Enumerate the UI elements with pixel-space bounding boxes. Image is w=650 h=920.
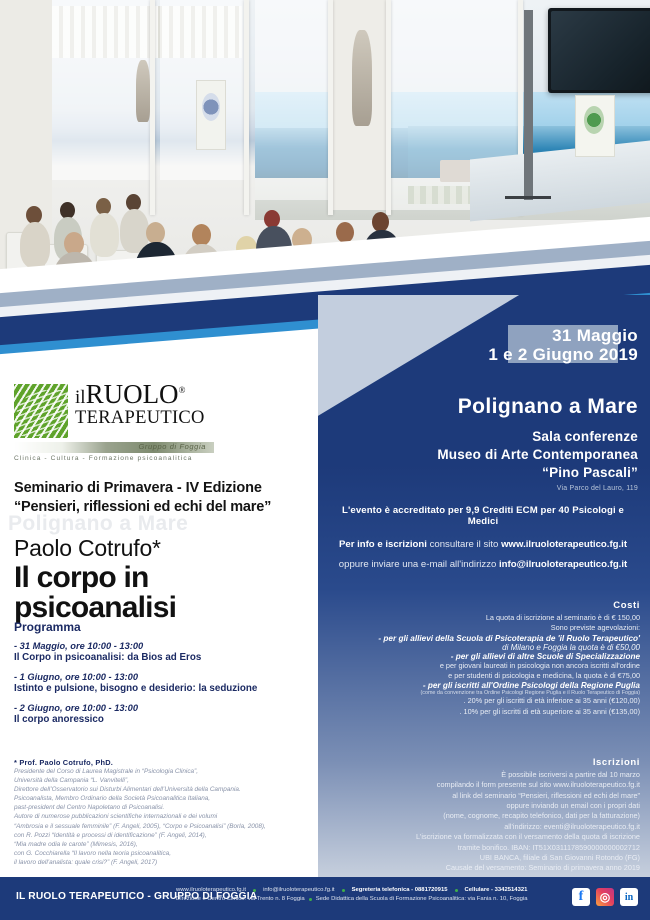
photo-statue-1 (136, 60, 150, 122)
costs-intro-1: La quota di iscrizione al seminario è di… (340, 613, 640, 623)
footer-contacts: www.ilruoloterapeutico.fg.it info@ilruol… (176, 886, 586, 904)
registration-line: L'iscrizione va formalizzata con il vers… (340, 832, 640, 842)
separator-dot-icon (309, 898, 312, 901)
bio-line: con R. Pozzi “Identità e processi di ide… (14, 831, 314, 840)
info-registration-line: Per info e iscrizioni consultare il sito… (328, 539, 638, 550)
session-date: - 31 Maggio, ore 10:00 - 13:00 (14, 641, 309, 651)
program-section: Programma - 31 Maggio, ore 10:00 - 13:00… (14, 620, 309, 734)
registration-bank-line: UBI BANCA, filiale di San Giovanni Roton… (340, 853, 640, 863)
linkedin-icon[interactable]: in (620, 888, 638, 906)
page-title: Il corpo in psicoanalisi (14, 563, 318, 623)
registration-line: (nome, cognome, recapito telefonico, dat… (340, 811, 640, 821)
venue-city: Polignano a Mare (338, 395, 638, 419)
registration-line: al link del seminario “Pensieri, rifless… (340, 791, 640, 801)
costs-item-1: - per gli allievi della Scuola di Psicot… (340, 634, 640, 643)
session-title: Il Corpo in psicoanalisi: da Bios ad Ero… (14, 652, 309, 663)
footer-contact-row: www.ilruoloterapeutico.fg.it info@ilruol… (176, 886, 586, 895)
session-date: - 1 Giugno, ore 10:00 - 13:00 (14, 672, 309, 682)
date-line-1: 31 Maggio (488, 326, 638, 345)
seminar-edition: Seminario di Primavera - IV Edizione (14, 480, 314, 496)
bio-line: Direttore dell’Osservatorio sui Disturbi… (14, 785, 314, 794)
footer-website[interactable]: www.ilruoloterapeutico.fg.it (176, 886, 246, 895)
logo-ruolo-text: RUOLO (86, 379, 179, 409)
logo-group-text: Gruppo di Foggia (138, 442, 206, 451)
bio-line: past-president del Centro Napoletano di … (14, 803, 314, 812)
photo-tripod-base (505, 196, 551, 199)
venue-address: Via Parco del Lauro, 119 (338, 485, 638, 492)
costs-item-2: - per gli allievi di altre Scuole di Spe… (340, 652, 640, 661)
program-session: - 1 Giugno, ore 10:00 - 13:00 Istinto e … (14, 672, 309, 694)
registration-block: Iscrizioni È possibile iscriversi a part… (340, 757, 640, 874)
instagram-icon[interactable]: ◎ (596, 888, 614, 906)
costs-item-3-sub-1: . 20% per gli iscritti di età inferiore … (340, 696, 640, 706)
logo-name-line-1: ilRUOLO® (75, 382, 205, 408)
photo-statue-2 (352, 30, 372, 126)
venue-block: Polignano a Mare Sala conferenze Museo d… (338, 395, 638, 492)
facebook-icon[interactable]: f (572, 888, 590, 906)
costs-block: Costi La quota di iscrizione al seminari… (340, 600, 640, 717)
program-session: - 31 Maggio, ore 10:00 - 13:00 Il Corpo … (14, 641, 309, 663)
registration-line: compilando il form presente sul sito www… (340, 780, 640, 790)
registration-email-line[interactable]: all'indirizzo: eventi@ilruoloterapeutico… (340, 822, 640, 832)
speaker-bio: * Prof. Paolo Cotrufo, PhD. Presidente d… (14, 758, 314, 867)
bio-line: “Ambrosia e il sessuale femminile” (F. A… (14, 822, 314, 831)
bio-line: Psicoanalista, Membro Ordinario della So… (14, 794, 314, 803)
registration-heading: Iscrizioni (340, 757, 640, 768)
registration-line: È possibile iscriversi a partire dal 10 … (340, 770, 640, 780)
date-line-2: 1 e 2 Giugno 2019 (488, 345, 638, 364)
costs-item-3: - per gli iscritti all'Ordine Psicologi … (340, 681, 640, 690)
background-watermark: Polignano a Mare (8, 512, 188, 536)
footer-bar: IL RUOLO TERAPEUTICO - GRUPPO DI FOGGIA … (0, 877, 650, 920)
bio-line: “Mia madre odia le carote” (Mimesis, 201… (14, 840, 314, 849)
logo-group-bar: Gruppo di Foggia (14, 442, 214, 453)
footer-mobile: Cellulare - 3342514321 (465, 886, 528, 895)
bio-line: il lavoro dell’analista: quale crisi?” (… (14, 858, 314, 867)
registration-iban-line: tramite bonifico. IBAN: IT51X03111785900… (340, 843, 640, 853)
info-consult-text: consultare il sito (430, 539, 499, 550)
accreditation-credits: L'evento è accreditato per 9,9 Crediti E… (328, 505, 638, 527)
left-column: ilRUOLO® TERAPEUTICO Gruppo di Foggia Cl… (0, 380, 318, 877)
session-title: Il corpo anoressico (14, 714, 309, 725)
bio-line: Università della Campania “L. Vanvitelli… (14, 776, 314, 785)
photo-event-poster (575, 95, 615, 157)
organization-logo: ilRUOLO® TERAPEUTICO Gruppo di Foggia Cl… (14, 382, 222, 462)
logo-name-line-2: TERAPEUTICO (75, 409, 205, 428)
bio-heading: * Prof. Paolo Cotrufo, PhD. (14, 758, 314, 767)
footer-address-row: Direzione e Centro Clinico: via Trento n… (176, 895, 586, 904)
accreditation-block: L'evento è accreditato per 9,9 Crediti E… (328, 505, 638, 570)
seminar-heading: Seminario di Primavera - IV Edizione “Pe… (14, 480, 314, 515)
seminar-subtitle: “Pensieri, riflessioni ed echi del mare” (14, 499, 314, 515)
email-prefix-text: oppure inviare una e-mail all'indirizzo (339, 559, 497, 570)
photo-television (548, 8, 650, 93)
registration-line: oppure inviando un email con i propri da… (340, 801, 640, 811)
separator-dot-icon (455, 889, 458, 892)
costs-item-2-sub-2: e per studenti di psicologia e medicina,… (340, 671, 640, 681)
costs-item-1-sub: di Milano e Foggia la quota è di €50,00 (340, 643, 640, 652)
info-email-line: oppure inviare una e-mail all'indirizzo … (328, 559, 638, 570)
registration-causale-line: Causale del versamento: Seminario di pri… (340, 863, 640, 873)
costs-item-2-sub-1: e per giovani laureati in psicologia non… (340, 661, 640, 671)
separator-dot-icon (253, 889, 256, 892)
email-link[interactable]: info@ilruoloterapeutico.fg.it (499, 559, 627, 570)
website-link[interactable]: www.ilruoloterapeutico.fg.it (501, 539, 627, 550)
logo-il-text: il (75, 387, 86, 408)
logo-leaf-icon (14, 384, 68, 438)
info-label: Per info e iscrizioni (339, 539, 427, 550)
separator-dot-icon (342, 889, 345, 892)
photo-tv-stand (524, 10, 533, 200)
venue-museum: Museo di Arte Contemporanea (338, 446, 638, 464)
footer-phone: Segreteria telefonica - 0881720915 (352, 886, 448, 895)
session-date: - 2 Giugno, ore 10:00 - 13:00 (14, 703, 309, 713)
costs-heading: Costi (340, 600, 640, 611)
logo-tagline: Clinica - Cultura - Formazione psicoanal… (14, 455, 222, 462)
photo-rollup-banner (196, 80, 226, 150)
bio-line: con G. Cocchiarella “Il lavoro nella teo… (14, 849, 314, 858)
venue-hall: Sala conferenze (338, 428, 638, 446)
venue-museum-name: “Pino Pascali” (338, 464, 638, 482)
photo-window-3 (255, 0, 330, 200)
costs-item-3-sub-2: . 10% per gli iscritti di età superiore … (340, 707, 640, 717)
event-date: 31 Maggio 1 e 2 Giugno 2019 (488, 326, 638, 364)
social-links: f ◎ in (572, 888, 638, 906)
program-session: - 2 Giugno, ore 10:00 - 13:00 Il corpo a… (14, 703, 309, 725)
footer-email[interactable]: info@ilruoloterapeutico.fg.it (263, 886, 334, 895)
footer-address-main: Direzione e Centro Clinico: via Trento n… (176, 895, 305, 904)
session-title: Istinto e pulsione, bisogno e desiderio:… (14, 683, 309, 694)
costs-intro-2: Sono previste agevolazioni: (340, 623, 640, 633)
program-heading: Programma (14, 620, 309, 634)
bio-line: Presidente del Corso di Laurea Magistral… (14, 767, 314, 776)
bio-line: Autore di numerose pubblicazioni scienti… (14, 812, 314, 821)
logo-registered-icon: ® (179, 385, 186, 395)
speaker-name: Paolo Cotrufo* (14, 535, 161, 562)
footer-address-school: Sede Didattica della Scuola di Formazion… (316, 895, 528, 904)
